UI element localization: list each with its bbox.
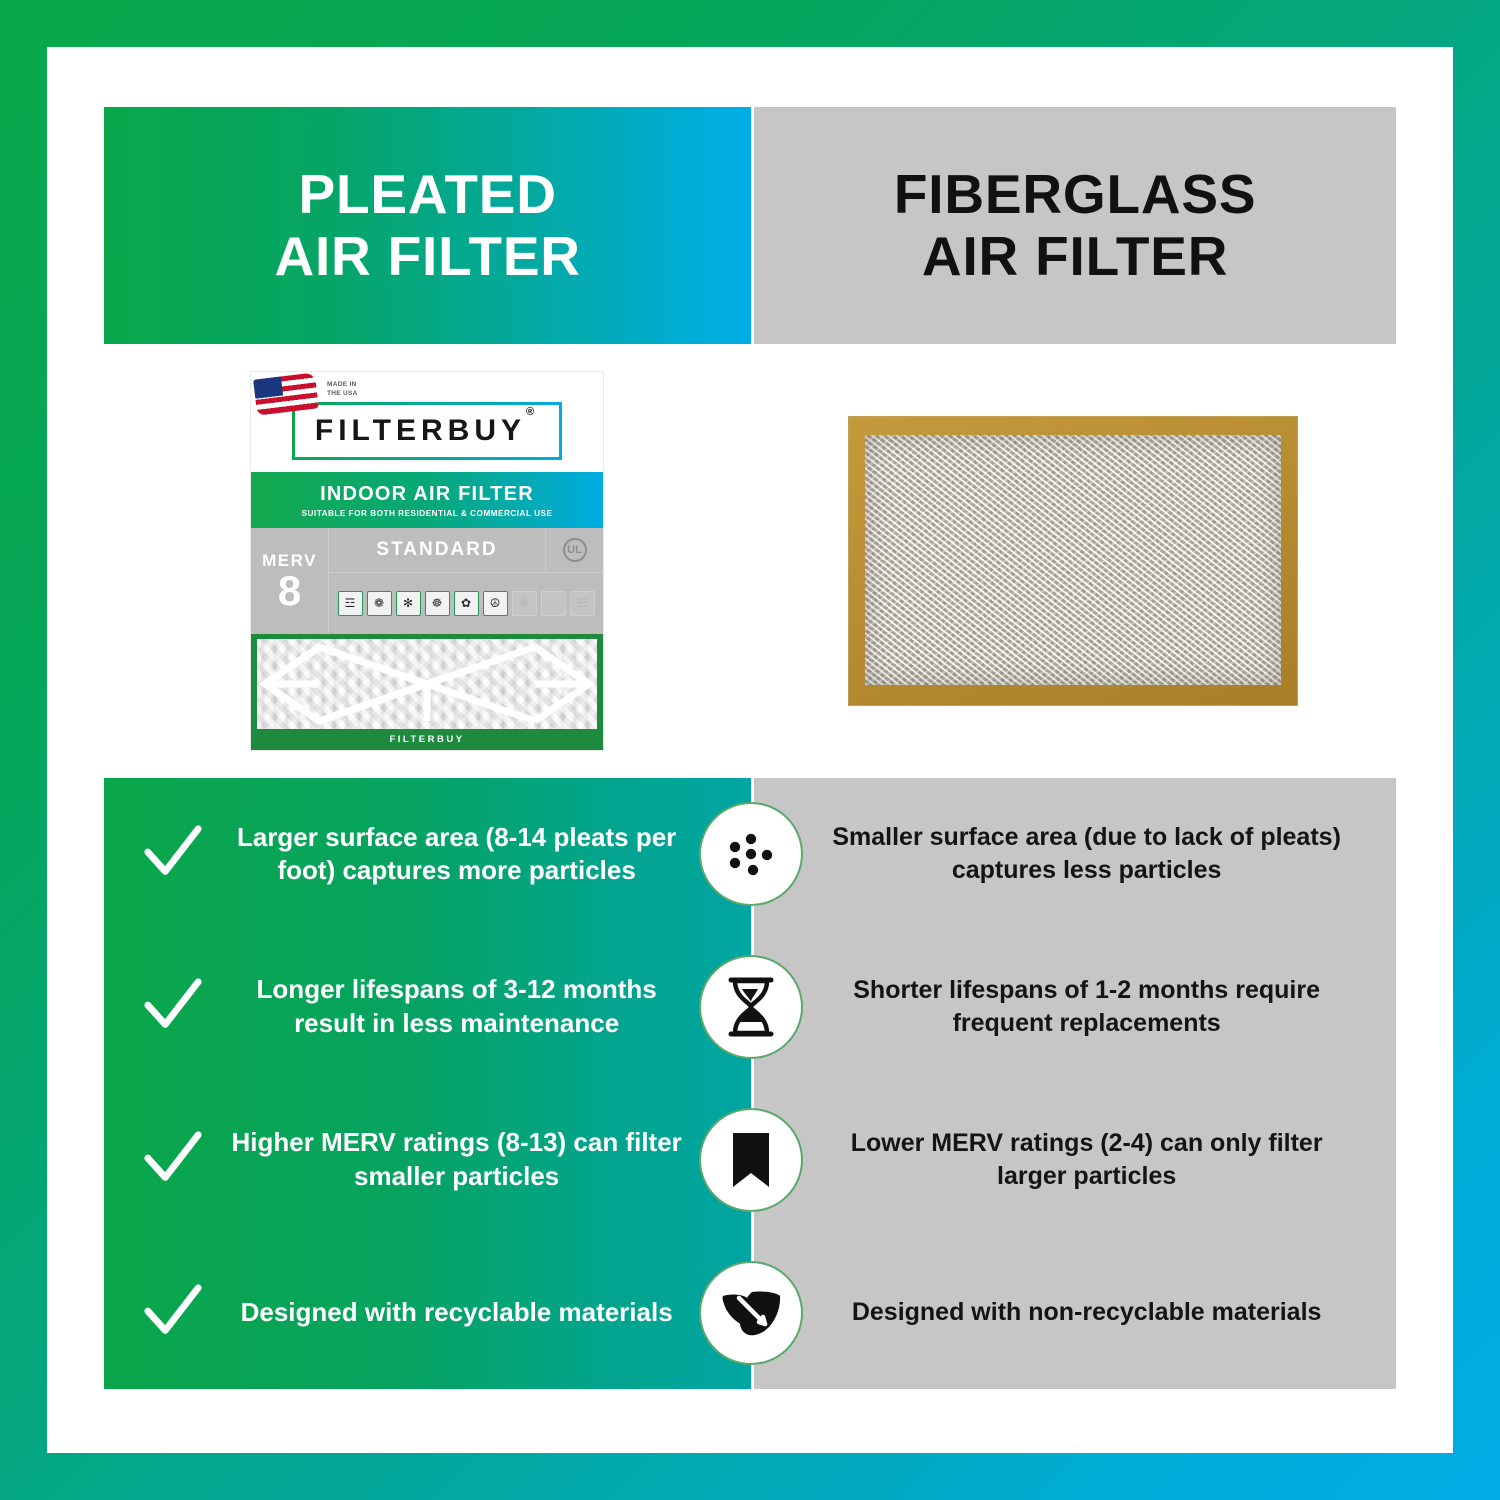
bookmark-icon — [699, 1108, 803, 1212]
leaf-icon — [699, 1261, 803, 1365]
header-fiberglass-line1: FIBERGLASS — [894, 164, 1256, 226]
bookmark-icon-glyph — [727, 1130, 775, 1190]
fiberglass-filter-photo — [849, 417, 1297, 705]
pet-dander-icon: ☮ — [483, 591, 508, 616]
checkmark-icon — [142, 976, 204, 1038]
checkmark-icon — [142, 823, 204, 885]
product-image-strip: MADE IN THE USA FILTERBUY® INDOOR AIR FI… — [104, 344, 1396, 778]
made-in-line2: THE USA — [327, 389, 358, 398]
comparison-text-right: Shorter lifespans of 1-2 months require … — [829, 974, 1344, 1040]
comparison-section: Larger surface area (8-14 pleats per foo… — [104, 778, 1396, 1389]
particles-icon — [699, 802, 803, 906]
lint-icon: ✿ — [454, 591, 479, 616]
comparison-text-left: Designed with recyclable materials — [222, 1296, 691, 1330]
brand-plate: FILTERBUY® — [292, 402, 562, 460]
header-fiberglass-line2: AIR FILTER — [894, 226, 1256, 288]
checkmark-icon — [142, 1129, 204, 1191]
fiberglass-media-texture — [865, 435, 1281, 685]
brand-logo-text: FILTERBUY® — [315, 414, 539, 448]
header-fiberglass: FIBERGLASS AIR FILTER — [751, 107, 1396, 344]
leaf-icon-glyph — [719, 1284, 783, 1342]
hourglass-icon-glyph — [722, 976, 780, 1038]
comparison-row: Higher MERV ratings (8-13) can filter sm… — [104, 1084, 1396, 1237]
merv-badge: MERV 8 — [251, 528, 329, 634]
package-footer-brand: FILTERBUY — [257, 729, 597, 745]
header-fiberglass-title: FIBERGLASS AIR FILTER — [894, 164, 1256, 287]
comparison-cell-left: Designed with recyclable materials — [104, 1282, 751, 1344]
comparison-cell-left: Longer lifespans of 3-12 months result i… — [104, 973, 751, 1041]
comparison-row: Larger surface area (8-14 pleats per foo… — [104, 778, 1396, 931]
usa-flag-icon — [253, 372, 319, 415]
mold-icon: ☸ — [425, 591, 450, 616]
comparison-cell-right: Lower MERV ratings (2-4) can only filter… — [751, 1127, 1396, 1193]
merv-value: 8 — [278, 571, 301, 611]
package-band-title: INDOOR AIR FILTER — [320, 483, 534, 506]
comparison-text-left: Higher MERV ratings (8-13) can filter sm… — [222, 1126, 691, 1194]
header-pleated: PLEATED AIR FILTER — [104, 107, 751, 344]
pleated-filter-package: MADE IN THE USA FILTERBUY® INDOOR AIR FI… — [251, 372, 603, 750]
pleat-texture — [257, 639, 597, 729]
header-band: PLEATED AIR FILTER FIBERGLASS AIR FILTER — [104, 107, 1396, 344]
fiberglass-product-cell — [750, 344, 1396, 778]
made-in-line1: MADE IN — [327, 380, 358, 389]
comparison-row: Designed with recyclable materials D — [104, 1236, 1396, 1389]
infographic-body: PLEATED AIR FILTER FIBERGLASS AIR FILTER — [104, 107, 1396, 1401]
white-canvas: PLEATED AIR FILTER FIBERGLASS AIR FILTER — [47, 47, 1453, 1453]
header-pleated-title: PLEATED AIR FILTER — [274, 164, 580, 287]
wire-mesh-overlay — [257, 639, 597, 729]
particles-icon-glyph — [720, 823, 782, 885]
brand-logo-word: FILTERBUY — [315, 414, 526, 447]
package-spec-right: STANDARD UL ☲ ❁ ✻ ☸ — [329, 528, 603, 634]
package-mini-icon-row: ☲ ❁ ✻ ☸ ✿ ☮ ❄ ◌ ☵ — [329, 573, 603, 634]
comparison-text-left: Longer lifespans of 3-12 months result i… — [222, 973, 691, 1041]
comparison-text-right: Lower MERV ratings (2-4) can only filter… — [829, 1127, 1344, 1193]
outer-gradient-frame: PLEATED AIR FILTER FIBERGLASS AIR FILTER — [0, 0, 1500, 1500]
ul-certification-mark: UL — [545, 528, 603, 572]
pleated-product-cell: MADE IN THE USA FILTERBUY® INDOOR AIR FI… — [104, 344, 750, 778]
package-spec-section: MERV 8 STANDARD UL — [251, 528, 603, 634]
smoke-icon: ❄ — [512, 591, 537, 616]
brand-trademark: ® — [526, 406, 539, 418]
comparison-text-right: Designed with non-recyclable materials — [852, 1296, 1322, 1329]
made-in-usa-label: MADE IN THE USA — [327, 380, 358, 398]
pleated-media-window: FILTERBUY — [251, 634, 603, 750]
dust-mites-icon: ❁ — [367, 591, 392, 616]
comparison-cell-right: Smaller surface area (due to lack of ple… — [751, 821, 1396, 887]
virus-icon: ☵ — [570, 591, 595, 616]
header-pleated-line1: PLEATED — [274, 164, 580, 226]
comparison-text-right: Smaller surface area (due to lack of ple… — [829, 821, 1344, 887]
pollen-icon: ✻ — [396, 591, 421, 616]
comparison-text-left: Larger surface area (8-14 pleats per foo… — [222, 821, 691, 889]
checkmark-icon — [142, 1282, 204, 1344]
bacteria-icon: ◌ — [541, 591, 566, 616]
comparison-rows: Larger surface area (8-14 pleats per foo… — [104, 778, 1396, 1389]
header-pleated-line2: AIR FILTER — [274, 226, 580, 288]
comparison-row: Longer lifespans of 3-12 months result i… — [104, 931, 1396, 1084]
package-top-section: MADE IN THE USA FILTERBUY® — [251, 372, 603, 472]
hourglass-icon — [699, 955, 803, 1059]
package-band-subtitle: SUITABLE FOR BOTH RESIDENTIAL & COMMERCI… — [302, 509, 553, 518]
lint-dust-icon: ☲ — [338, 591, 363, 616]
grade-label: STANDARD — [329, 539, 545, 561]
comparison-cell-left: Larger surface area (8-14 pleats per foo… — [104, 821, 751, 889]
comparison-cell-right: Shorter lifespans of 1-2 months require … — [751, 974, 1396, 1040]
grade-row: STANDARD UL — [329, 528, 603, 573]
package-gradient-band: INDOOR AIR FILTER SUITABLE FOR BOTH RESI… — [251, 472, 603, 528]
comparison-cell-right: Designed with non-recyclable materials — [751, 1296, 1396, 1329]
ul-circle-label: UL — [563, 538, 587, 562]
comparison-cell-left: Higher MERV ratings (8-13) can filter sm… — [104, 1126, 751, 1194]
